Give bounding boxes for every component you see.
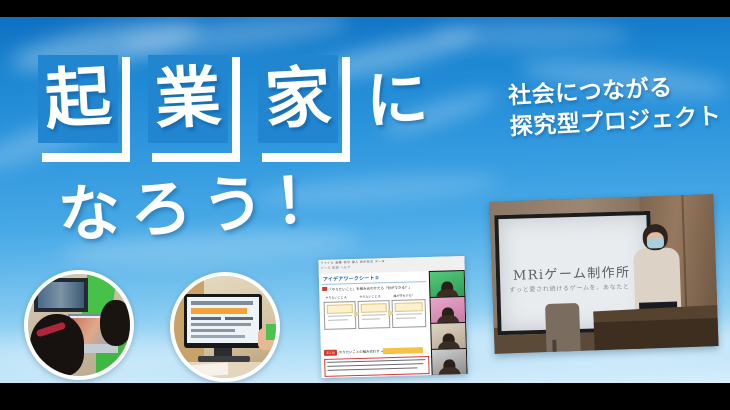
video-tile-participant-3	[431, 323, 466, 349]
kanji-frame-vertical	[342, 57, 350, 157]
letterbox-bottom	[0, 383, 730, 410]
green-object	[266, 324, 278, 340]
classroom-photo-content	[28, 274, 130, 376]
wall-monitor	[34, 278, 88, 312]
table-front	[594, 318, 719, 350]
video-tile-participant-1	[430, 271, 465, 297]
slide-highlight-bar	[191, 308, 247, 314]
poster-canvas: 起 業 家 に 社会につながる 探究型プロジェクト なろう！	[0, 0, 730, 410]
kanji-char-ki: 起	[36, 53, 121, 145]
summary-note: やりたいことの組み合わせ →	[339, 348, 384, 354]
kanji-cell-2: 業	[148, 55, 244, 167]
column-head-1: やりたいこと A	[325, 295, 346, 300]
idea-card-3	[392, 299, 427, 328]
slide-line	[191, 329, 235, 332]
display-bezel	[184, 294, 262, 348]
question-marker	[322, 287, 327, 291]
idea-card-2	[358, 300, 391, 329]
flow-arrow-icon	[354, 310, 360, 318]
headline-second-line: なろう！	[56, 167, 347, 246]
kanji-frame-horizontal	[42, 153, 130, 162]
kanji-frame-horizontal	[152, 153, 240, 162]
subtitle-block: 社会につながる 探究型プロジェクト	[507, 71, 721, 145]
answer-box	[324, 356, 429, 377]
kanji-frame-vertical	[122, 57, 130, 157]
card-rule	[396, 317, 416, 319]
kanji-char-gyou: 業	[146, 53, 231, 145]
participant-body	[437, 315, 459, 323]
kanji-char-ka: 家	[256, 53, 341, 145]
card-rule	[328, 315, 352, 317]
video-participant-strip	[429, 270, 468, 375]
idea-card-label	[361, 303, 387, 313]
column-head-2: やりたいこと B	[359, 294, 380, 299]
slide-line	[191, 335, 245, 338]
answer-rule	[327, 367, 417, 371]
idea-card-1	[324, 301, 357, 330]
monitor-image	[38, 282, 84, 308]
kanji-frame-vertical	[232, 57, 240, 157]
idea-card-label	[327, 304, 353, 314]
letterbox-top	[0, 0, 730, 17]
kanji-cell-1: 起	[38, 55, 134, 167]
slide-subtitle: ずっと愛され続けるゲームを、あなたと	[509, 281, 630, 293]
summary-highlight	[383, 347, 423, 354]
headline-kanji-row: 起 業 家 に	[38, 55, 428, 167]
slide-line	[191, 301, 253, 305]
headline-particle-ni: に	[364, 67, 429, 132]
worksheet-screenshot: ファイル 編集 表示 挿入 表示形式 データ ツール 拡張 ヘルプ アイデアワー…	[318, 256, 467, 378]
second-student-head	[100, 300, 132, 346]
photo-monitor-circle	[170, 272, 280, 382]
participant-body	[438, 367, 460, 375]
card-rule	[362, 318, 380, 320]
chair	[545, 303, 581, 352]
monitor-photo-content	[174, 276, 276, 378]
face-mask	[647, 238, 664, 249]
card-rule	[328, 319, 348, 321]
photo-presentation: MRiゲーム制作所 ずっと愛され続けるゲームを、あなたと	[489, 194, 718, 354]
slide-line	[225, 317, 253, 320]
worksheet-question: 「やりたいこと」を組み合わせたら「何ができる？」	[328, 284, 412, 291]
chair-leg	[552, 340, 556, 352]
slide-line	[191, 323, 251, 326]
card-rule	[362, 314, 386, 316]
kanji-cell-3: 家	[258, 55, 354, 167]
photo-classroom-circle	[24, 270, 134, 380]
flow-arrow-icon	[388, 309, 394, 317]
menu-bar-row-2: ツール 拡張 ヘルプ	[321, 265, 351, 270]
column-head-3: 誰が守をする？	[393, 293, 414, 298]
worksheet-document: アイデアワークシート② 「やりたいこと」を組み合わせたら「何ができる？」 やりた…	[319, 271, 432, 378]
menu-bar-row-1: ファイル 編集 表示 挿入 表示形式 データ	[320, 259, 385, 265]
card-rule	[396, 313, 422, 315]
answer-rule	[327, 363, 423, 367]
summary-red-tag: まとめ	[324, 350, 337, 356]
video-tile-participant-4	[432, 349, 467, 375]
display-surface	[187, 297, 259, 343]
participant-body	[436, 289, 458, 297]
cloud-wisp	[430, 21, 630, 49]
slide-title: MRiゲーム制作所	[513, 261, 631, 283]
idea-card-label	[395, 302, 423, 312]
slide-line	[191, 317, 221, 320]
participant-body	[438, 341, 460, 349]
video-tile-participant-2	[430, 297, 465, 323]
